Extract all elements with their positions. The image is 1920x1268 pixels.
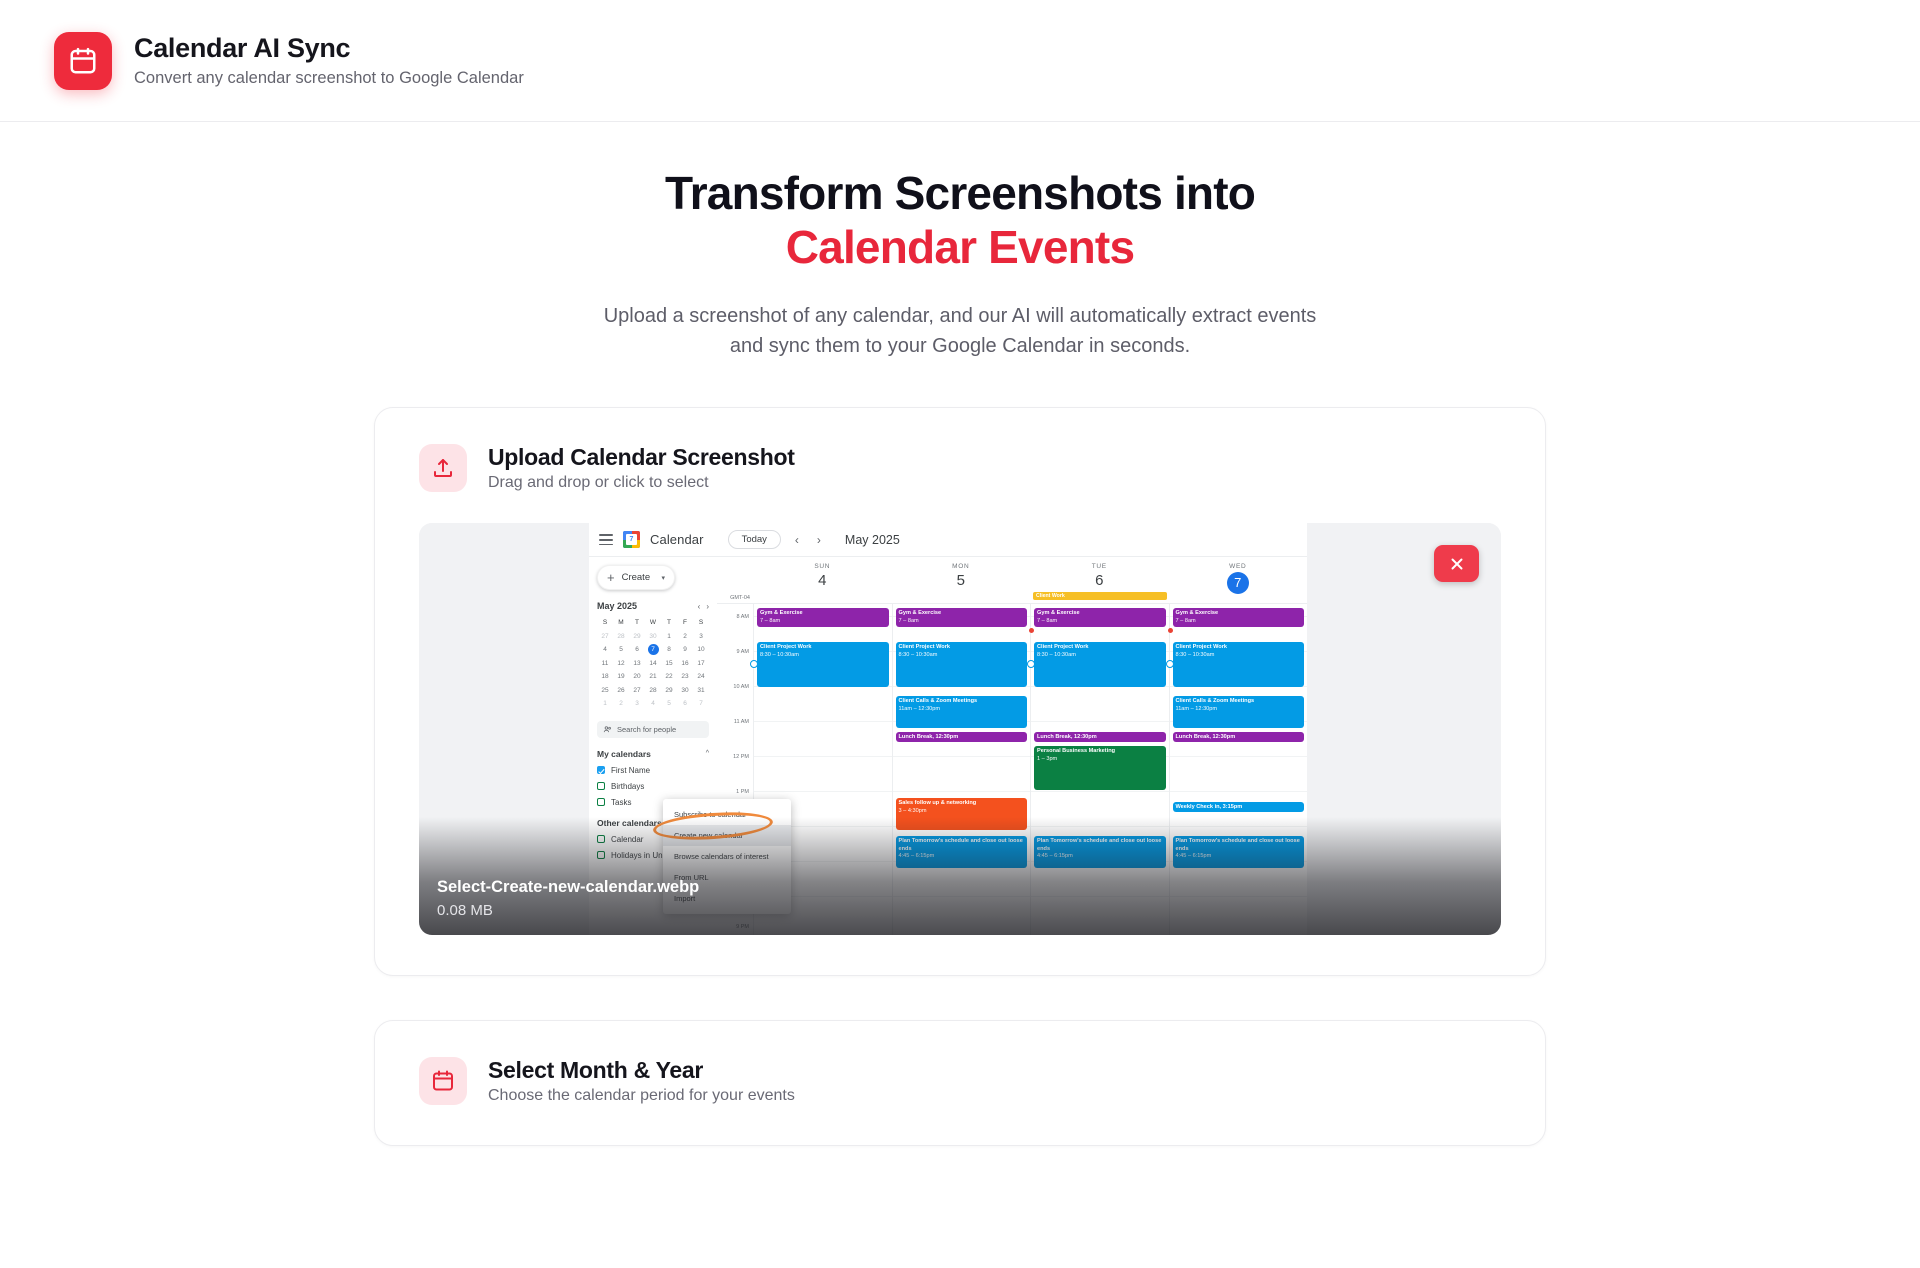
timezone-label: GMT-04	[730, 595, 750, 601]
mini-day-cell[interactable]: 24	[693, 670, 709, 684]
event-time: 7 – 8am	[760, 618, 886, 625]
event-time: 11am – 12:30pm	[899, 706, 1025, 713]
people-icon	[603, 725, 612, 734]
mini-day-cell[interactable]: 2	[613, 697, 629, 711]
day-column[interactable]: Gym & Exercise7 – 8amClient Project Work…	[892, 604, 1031, 935]
mini-day-cell[interactable]: 30	[645, 630, 661, 644]
mini-calendar-grid[interactable]: SMTWTFS272829301234567891011121314151617…	[597, 616, 709, 711]
event-title: Lunch Break, 12:30pm	[899, 734, 1025, 741]
next-period-button[interactable]: ›	[813, 533, 825, 547]
mini-calendar[interactable]: May 2025 ‹ › SMTWTFS27282930123456789101…	[597, 601, 709, 711]
upload-icon	[419, 444, 467, 492]
all-day-event[interactable]: Client Work	[1033, 592, 1167, 600]
month-card-subtitle: Choose the calendar period for your even…	[488, 1087, 795, 1105]
gcal-month-label: May 2025	[845, 533, 900, 547]
event-title: Sales follow up & networking	[899, 800, 1025, 807]
hour-gridline	[754, 721, 892, 722]
month-year-card[interactable]: Select Month & Year Choose the calendar …	[374, 1020, 1546, 1146]
time-label: 12 PM	[733, 754, 749, 760]
event-title: Weekly Check in, 3:15pm	[1176, 804, 1302, 811]
day-number: 4	[753, 572, 892, 589]
upload-card-header: Upload Calendar Screenshot Drag and drop…	[419, 444, 1501, 492]
event-title: Client Calls & Zoom Meetings	[899, 698, 1025, 705]
day-number: 5	[892, 572, 1031, 589]
calendar-event[interactable]: Plan Tomorrow's schedule and close out l…	[1034, 836, 1166, 868]
mini-day-cell[interactable]: 7	[693, 697, 709, 711]
day-number: 7	[1227, 572, 1249, 594]
mini-dow: F	[677, 616, 693, 630]
mini-day-cell[interactable]: 8	[661, 643, 677, 657]
event-title: Plan Tomorrow's schedule and close out l…	[1176, 838, 1302, 853]
event-title: Gym & Exercise	[1176, 610, 1302, 617]
hero-title-line1: Transform Screenshots into	[665, 167, 1255, 219]
day-column-header[interactable]: MON5	[892, 557, 1031, 603]
event-title: Plan Tomorrow's schedule and close out l…	[899, 838, 1025, 853]
calendar-list-item-label: Tasks	[611, 798, 631, 807]
event-title: Personal Business Marketing	[1037, 748, 1163, 755]
mini-day-cell[interactable]: 27	[597, 630, 613, 644]
mini-day-cell[interactable]: 20	[629, 670, 645, 684]
calendar-screenshot: 7 Calendar Today ‹ › May 2025 + Create ▾	[589, 523, 1307, 935]
mini-day-cell[interactable]: 23	[677, 670, 693, 684]
mini-day-cell[interactable]: 1	[661, 630, 677, 644]
day-of-week-label: MON	[892, 563, 1031, 570]
hero-subtitle-line1: Upload a screenshot of any calendar, and…	[0, 301, 1920, 331]
mini-dow: W	[645, 616, 661, 630]
hour-gridline	[1170, 826, 1308, 827]
gcal-logo-day: 7	[626, 534, 637, 545]
mini-next-icon[interactable]: ›	[706, 602, 709, 611]
calendar-event[interactable]: Client Project Work8:30 – 10:30am	[757, 642, 889, 687]
upload-card[interactable]: Upload Calendar Screenshot Drag and drop…	[374, 407, 1546, 976]
mini-day-cell[interactable]: 13	[629, 657, 645, 671]
hour-gridline	[893, 756, 1031, 757]
event-time: 7 – 8am	[1037, 618, 1163, 625]
mini-day-cell[interactable]: 2	[677, 630, 693, 644]
event-time: 4:45 – 6:15pm	[1037, 853, 1163, 860]
mini-day-cell[interactable]: 17	[693, 657, 709, 671]
chevron-up-icon[interactable]: ^	[706, 750, 709, 757]
grid-body: 8 AM9 AM10 AM11 AM12 PM1 PM2 PM3 PM9 PM …	[717, 604, 1307, 935]
event-time: 8:30 – 10:30am	[1037, 652, 1163, 659]
time-label: 9 PM	[736, 924, 749, 930]
calendar-event[interactable]: Gym & Exercise7 – 8am	[757, 608, 889, 627]
mini-day-cell[interactable]: 5	[613, 643, 629, 657]
event-title: Gym & Exercise	[1037, 610, 1163, 617]
remove-image-button[interactable]	[1434, 545, 1479, 582]
my-calendars-section: My calendars ^ First NameBirthdaysTasks	[597, 749, 709, 807]
event-time: 7 – 8am	[899, 618, 1025, 625]
time-label: 1 PM	[736, 789, 749, 795]
hour-gridline	[1031, 791, 1169, 792]
hero-subtitle: Upload a screenshot of any calendar, and…	[0, 301, 1920, 362]
mini-day-cell[interactable]: 3	[629, 697, 645, 711]
mini-day-cell[interactable]: 1	[597, 697, 613, 711]
day-of-week-label: TUE	[1030, 563, 1169, 570]
mini-day-cell[interactable]: 28	[645, 684, 661, 698]
checkbox[interactable]	[597, 766, 605, 774]
hour-gridline	[1031, 826, 1169, 827]
time-label: 9 AM	[736, 649, 749, 655]
mini-day-cell[interactable]: 29	[661, 684, 677, 698]
time-label: 8 AM	[736, 614, 749, 620]
calendar-event[interactable]: Plan Tomorrow's schedule and close out l…	[896, 836, 1028, 868]
gcal-topbar: 7 Calendar Today ‹ › May 2025	[589, 523, 1307, 557]
mini-calendar-month: May 2025	[597, 601, 637, 611]
checkbox[interactable]	[597, 835, 605, 843]
hero-section: Transform Screenshots into Calendar Even…	[0, 122, 1920, 361]
event-title: Client Project Work	[1176, 644, 1302, 651]
calendar-event[interactable]: Gym & Exercise7 – 8am	[1173, 608, 1305, 627]
app-title: Calendar AI Sync	[134, 33, 524, 64]
mini-day-cell[interactable]: 10	[693, 643, 709, 657]
event-time: 1 – 3pm	[1037, 756, 1163, 763]
calendar-event[interactable]: Lunch Break, 12:30pm	[896, 732, 1028, 742]
upload-card-title: Upload Calendar Screenshot	[488, 444, 795, 471]
hero-subtitle-line2: and sync them to your Google Calendar in…	[0, 331, 1920, 361]
calendar-event[interactable]: Weekly Check in, 3:15pm	[1173, 802, 1305, 812]
calendar-event[interactable]: Lunch Break, 12:30pm	[1173, 732, 1305, 742]
month-card-header: Select Month & Year Choose the calendar …	[419, 1057, 1501, 1105]
mini-dow: T	[661, 616, 677, 630]
time-label: 10 AM	[733, 684, 749, 690]
context-menu-item[interactable]: Subscribe to calendar	[663, 804, 791, 825]
mini-day-cell[interactable]: 6	[677, 697, 693, 711]
mini-dow: S	[597, 616, 613, 630]
other-calendars-label: Other calendars	[597, 818, 662, 828]
event-time: 8:30 – 10:30am	[760, 652, 886, 659]
mini-dow: M	[613, 616, 629, 630]
hour-gridline	[1170, 756, 1308, 757]
preview-backdrop-left	[419, 523, 589, 935]
brand: Calendar AI Sync Convert any calendar sc…	[54, 32, 524, 90]
checkbox[interactable]	[597, 782, 605, 790]
calendar-event[interactable]: Client Calls & Zoom Meetings11am – 12:30…	[1173, 696, 1305, 728]
timezone-column: GMT-04	[717, 557, 753, 603]
calendar-event[interactable]: Gym & Exercise7 – 8am	[896, 608, 1028, 627]
mini-day-cell[interactable]: 3	[693, 630, 709, 644]
event-title: Plan Tomorrow's schedule and close out l…	[1037, 838, 1163, 853]
day-of-week-label: SUN	[753, 563, 892, 570]
calendar-event[interactable]: Client Project Work8:30 – 10:30am	[1173, 642, 1305, 687]
event-drag-handle[interactable]	[1166, 660, 1174, 668]
mini-day-cell[interactable]: 28	[613, 630, 629, 644]
mini-day-cell[interactable]: 25	[597, 684, 613, 698]
mini-day-cell[interactable]: 4	[597, 643, 613, 657]
calendar-list-item[interactable]: First Name	[597, 766, 709, 775]
mini-day-cell[interactable]: 4	[645, 697, 661, 711]
calendar-list-item-label: Calendar	[611, 835, 643, 844]
calendar-event[interactable]: Personal Business Marketing1 – 3pm	[1034, 746, 1166, 790]
mini-day-cell[interactable]: 16	[677, 657, 693, 671]
event-title: Gym & Exercise	[760, 610, 886, 617]
mini-day-cell[interactable]: 19	[613, 670, 629, 684]
checkbox[interactable]	[597, 798, 605, 806]
event-title: Lunch Break, 12:30pm	[1037, 734, 1163, 741]
event-title: Gym & Exercise	[899, 610, 1025, 617]
event-time: 8:30 – 10:30am	[899, 652, 1025, 659]
prev-period-button[interactable]: ‹	[791, 533, 803, 547]
current-time-dot	[1029, 628, 1034, 633]
mini-day-cell[interactable]: 29	[629, 630, 645, 644]
plus-icon: +	[607, 571, 615, 584]
hour-gridline	[754, 756, 892, 757]
mini-dow: S	[693, 616, 709, 630]
event-time: 7 – 8am	[1176, 618, 1302, 625]
mini-dow: T	[629, 616, 645, 630]
context-menu-item[interactable]: From URL	[663, 867, 791, 888]
mini-day-cell[interactable]: 31	[693, 684, 709, 698]
mini-day-cell[interactable]: 7	[648, 644, 659, 655]
month-card-title: Select Month & Year	[488, 1057, 795, 1084]
mini-day-cell[interactable]: 21	[645, 670, 661, 684]
event-time: 4:45 – 6:15pm	[899, 853, 1025, 860]
search-people-placeholder: Search for people	[617, 725, 676, 734]
checkbox[interactable]	[597, 851, 605, 859]
chevron-down-icon: ▾	[661, 574, 665, 582]
calendar-list-item[interactable]: Birthdays	[597, 782, 709, 791]
hour-gridline	[1170, 791, 1308, 792]
close-icon	[1448, 555, 1466, 573]
event-time: 3 – 4:30pm	[899, 808, 1025, 815]
my-calendars-label: My calendars	[597, 749, 651, 759]
hamburger-icon[interactable]	[599, 534, 613, 545]
mini-day-cell[interactable]: 9	[677, 643, 693, 657]
mini-day-cell[interactable]: 26	[613, 684, 629, 698]
hour-gridline	[1170, 896, 1308, 897]
google-calendar-logo: 7	[623, 531, 640, 548]
mini-day-cell[interactable]: 5	[661, 697, 677, 711]
mini-day-cell[interactable]: 18	[597, 670, 613, 684]
mini-day-cell[interactable]: 14	[645, 657, 661, 671]
day-column[interactable]: Client WorkGym & Exercise7 – 8amClient P…	[1030, 604, 1169, 935]
day-of-week-label: WED	[1169, 563, 1308, 570]
mini-day-cell[interactable]: 27	[629, 684, 645, 698]
day-column-header[interactable]: SUN4	[753, 557, 892, 603]
calendar-event[interactable]: Client Project Work8:30 – 10:30am	[896, 642, 1028, 687]
search-people-input[interactable]: Search for people	[597, 721, 709, 738]
calendar-event[interactable]: Lunch Break, 12:30pm	[1034, 732, 1166, 742]
hour-gridline	[893, 791, 1031, 792]
context-menu-item[interactable]: Create new calendar	[663, 825, 791, 846]
today-button[interactable]: Today	[728, 530, 781, 549]
day-headers: GMT-04 SUN4MON5TUE6WED7	[717, 557, 1307, 604]
calendar-event[interactable]: Plan Tomorrow's schedule and close out l…	[1173, 836, 1305, 868]
calendar-event[interactable]: Gym & Exercise7 – 8am	[1034, 608, 1166, 627]
image-preview[interactable]: 7 Calendar Today ‹ › May 2025 + Create ▾	[419, 523, 1501, 935]
event-time: 8:30 – 10:30am	[1176, 652, 1302, 659]
mini-day-cell[interactable]: 15	[661, 657, 677, 671]
app-subtitle: Convert any calendar screenshot to Googl…	[134, 69, 524, 88]
upload-card-subtitle: Drag and drop or click to select	[488, 474, 795, 492]
hour-gridline	[1031, 896, 1169, 897]
time-label: 11 AM	[734, 719, 749, 725]
preview-backdrop-right	[1307, 523, 1501, 935]
event-title: Lunch Break, 12:30pm	[1176, 734, 1302, 741]
create-button[interactable]: + Create ▾	[597, 565, 675, 590]
calendar-event[interactable]: Client Project Work8:30 – 10:30am	[1034, 642, 1166, 687]
day-column-header[interactable]: WED7	[1169, 557, 1308, 603]
hour-gridline	[754, 791, 892, 792]
hour-gridline	[1031, 721, 1169, 722]
mini-day-cell[interactable]: 6	[629, 643, 645, 657]
calendar-event[interactable]: Client Calls & Zoom Meetings11am – 12:30…	[896, 696, 1028, 728]
hero-title-line2: Calendar Events	[0, 220, 1920, 274]
day-number: 6	[1030, 572, 1169, 589]
calendar-icon	[54, 32, 112, 90]
event-title: Client Project Work	[760, 644, 886, 651]
calendar-context-menu[interactable]: Subscribe to calendarCreate new calendar…	[663, 799, 791, 914]
calendar-list-item-label: First Name	[611, 766, 650, 775]
app-header: Calendar AI Sync Convert any calendar sc…	[0, 0, 1920, 122]
mini-day-cell[interactable]: 11	[597, 657, 613, 671]
event-title: Client Project Work	[1037, 644, 1163, 651]
current-time-dot	[1168, 628, 1173, 633]
hour-gridline	[893, 896, 1031, 897]
page-title: Transform Screenshots into Calendar Even…	[0, 166, 1920, 275]
calendar-event[interactable]: Sales follow up & networking3 – 4:30pm	[896, 798, 1028, 830]
day-column[interactable]: Gym & Exercise7 – 8amClient Project Work…	[1169, 604, 1308, 935]
gcal-app-name: Calendar	[650, 532, 704, 547]
create-button-label: Create	[622, 572, 651, 583]
calendar-list-item-label: Birthdays	[611, 782, 644, 791]
calendar-icon	[419, 1057, 467, 1105]
mini-day-cell[interactable]: 30	[677, 684, 693, 698]
context-menu-item[interactable]: Import	[663, 888, 791, 909]
event-title: Client Calls & Zoom Meetings	[1176, 698, 1302, 705]
mini-day-cell[interactable]: 22	[661, 670, 677, 684]
context-menu-item[interactable]: Browse calendars of interest	[663, 846, 791, 867]
mini-prev-icon[interactable]: ‹	[698, 602, 701, 611]
event-time: 11am – 12:30pm	[1176, 706, 1302, 713]
event-time: 4:45 – 6:15pm	[1176, 853, 1302, 860]
event-title: Client Project Work	[899, 644, 1025, 651]
mini-day-cell[interactable]: 12	[613, 657, 629, 671]
gcal-week-grid: GMT-04 SUN4MON5TUE6WED7 8 AM9 AM10 AM11 …	[717, 557, 1307, 935]
